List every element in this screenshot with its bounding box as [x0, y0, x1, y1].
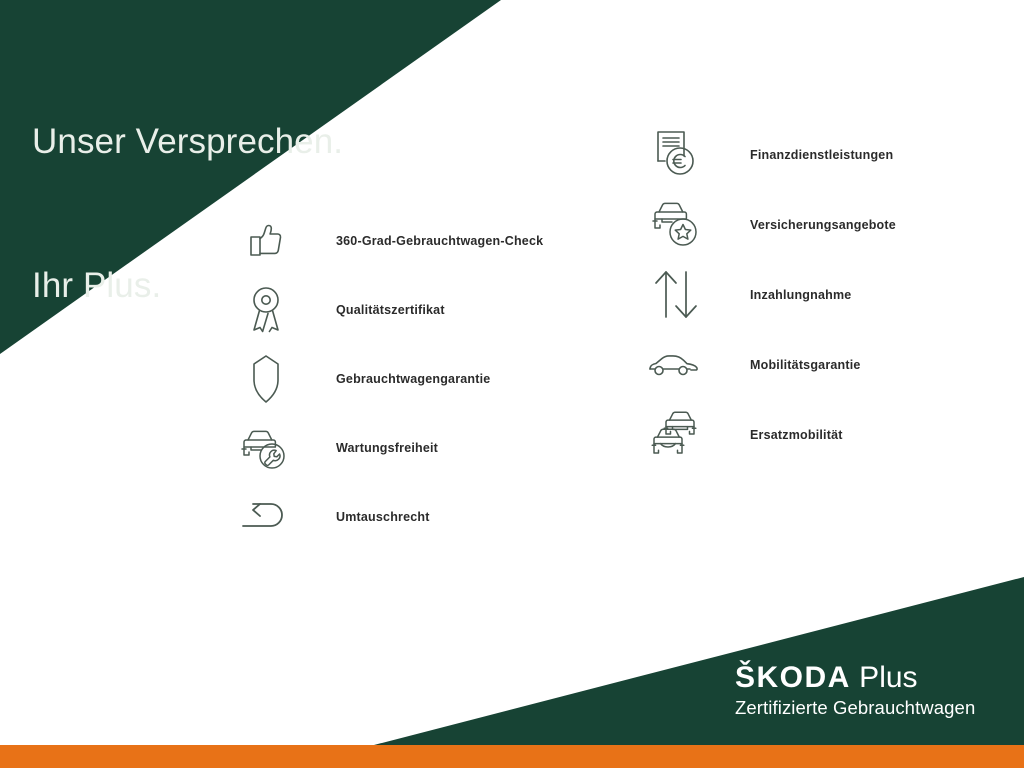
feature-label: Inzahlungnahme	[750, 288, 851, 302]
feature-label: Gebrauchtwagengarantie	[336, 372, 490, 386]
document-euro-icon	[648, 125, 708, 185]
logo-subtitle: Zertifizierte Gebrauchtwagen	[735, 696, 1005, 720]
feature-label: Finanzdienstleistungen	[750, 148, 893, 162]
headline-line-1: Unser Versprechen.	[32, 118, 343, 166]
u-turn-arrow-icon	[236, 487, 296, 547]
feature-item: Umtauschrecht	[236, 482, 636, 551]
logo-suffix: Plus	[851, 661, 918, 694]
feature-label: Ersatzmobilität	[750, 428, 843, 442]
orange-accent-bar	[0, 745, 1024, 768]
two-cars-icon	[648, 405, 708, 465]
feature-label: Versicherungsangebote	[750, 218, 896, 232]
feature-item: 360-Grad-Gebrauchtwagen-Check	[236, 206, 636, 275]
logo-wordmark-row: ŠKODA Plus	[735, 662, 1005, 694]
feature-label: Mobilitätsgarantie	[750, 358, 861, 372]
car-wrench-icon	[236, 418, 296, 478]
feature-label: Qualitätszertifikat	[336, 303, 445, 317]
feature-item: Versicherungsangebote	[648, 190, 1018, 260]
feature-label: Wartungsfreiheit	[336, 441, 438, 455]
feature-item: Gebrauchtwagengarantie	[236, 344, 636, 413]
feature-list-left: 360-Grad-Gebrauchtwagen-Check Qualitätsz…	[236, 206, 636, 551]
feature-item: Qualitätszertifikat	[236, 275, 636, 344]
up-down-arrows-icon	[648, 265, 708, 325]
promo-banner: Unser Versprechen. Ihr Plus. 360-Grad-Ge…	[0, 0, 1024, 768]
skoda-plus-logo: ŠKODA Plus Zertifizierte Gebrauchtwagen	[735, 662, 1005, 720]
logo-brand: ŠKODA	[735, 661, 851, 694]
feature-list-right: Finanzdienstleistungen Versicherungsange…	[648, 120, 1018, 470]
feature-item: Mobilitätsgarantie	[648, 330, 1018, 400]
thumbs-up-icon	[236, 211, 296, 271]
feature-item: Finanzdienstleistungen	[648, 120, 1018, 190]
car-side-icon	[648, 335, 708, 395]
feature-item: Ersatzmobilität	[648, 400, 1018, 470]
feature-label: Umtauschrecht	[336, 510, 430, 524]
award-rosette-icon	[236, 280, 296, 340]
feature-item: Wartungsfreiheit	[236, 413, 636, 482]
car-star-icon	[648, 195, 708, 255]
shield-icon	[236, 349, 296, 409]
feature-item: Inzahlungnahme	[648, 260, 1018, 330]
feature-label: 360-Grad-Gebrauchtwagen-Check	[336, 234, 543, 248]
